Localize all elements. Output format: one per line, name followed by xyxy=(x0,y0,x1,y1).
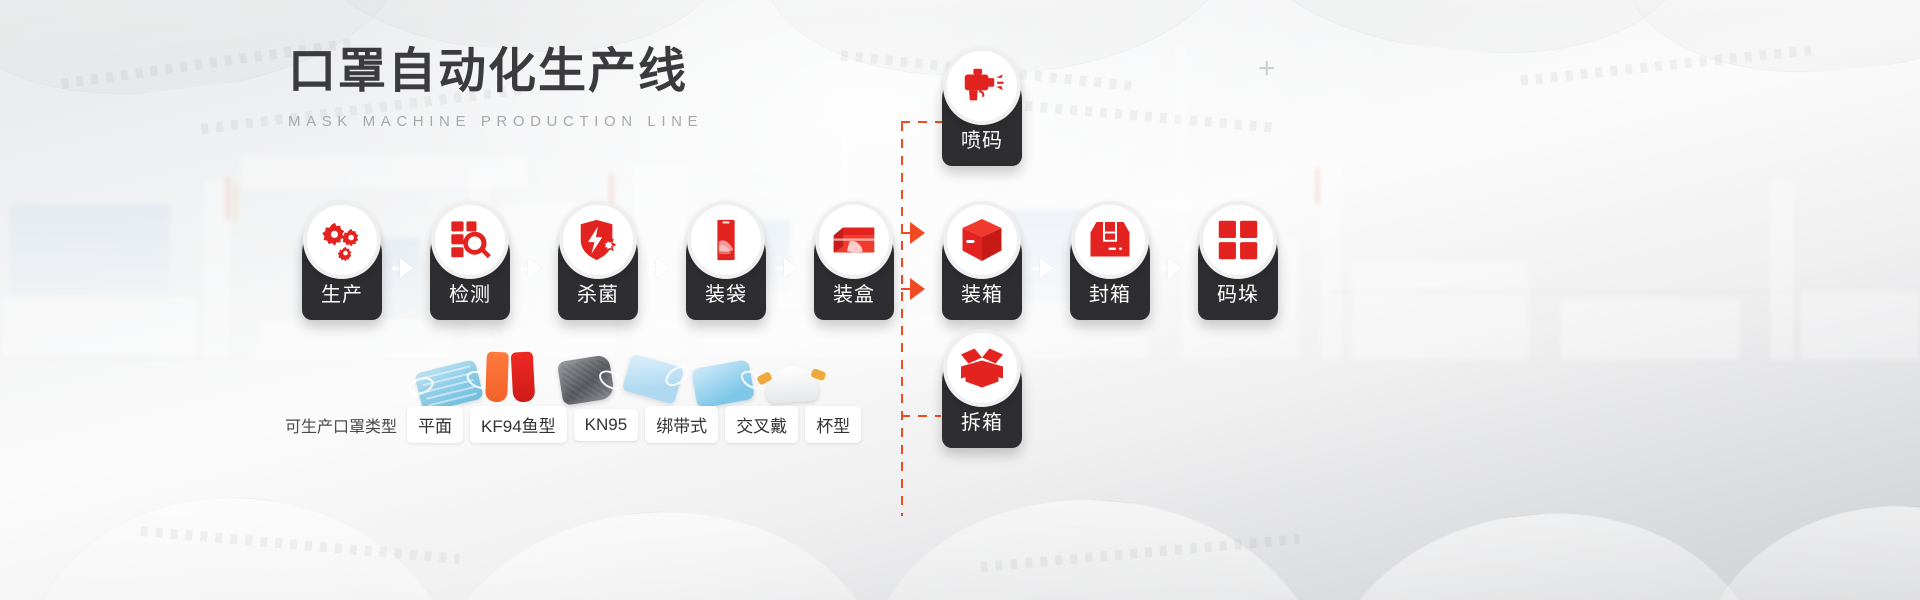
node-label: 码垛 xyxy=(1217,278,1259,320)
branch-trunk-vertical xyxy=(901,122,903,516)
flow-node-unboxing[interactable]: 拆箱 xyxy=(936,342,1028,448)
node-pill[interactable]: 封箱 xyxy=(1070,214,1150,320)
mask-image-kf94-b xyxy=(511,351,536,402)
node-pill[interactable]: 装箱 xyxy=(942,214,1022,320)
chain-arrow-5 xyxy=(1040,258,1053,278)
mask-type-chip-kf94[interactable]: KF94鱼型 xyxy=(470,406,567,443)
node-label: 装袋 xyxy=(705,278,747,320)
chain-arrow-3 xyxy=(656,258,669,278)
mask-types-label: 可生产口罩类型 xyxy=(285,413,397,437)
mask-bag-icon xyxy=(687,201,765,279)
decor-mask-shape xyxy=(858,481,1342,600)
node-pill[interactable]: 生产 xyxy=(302,214,382,320)
sealed-carton-icon xyxy=(1071,201,1149,279)
page-title: 口罩自动化生产线 xyxy=(288,44,703,101)
chain-arrow-1 xyxy=(400,258,413,278)
flow-node-coding[interactable]: 喷码 xyxy=(936,60,1028,166)
node-pill[interactable]: 喷码 xyxy=(942,60,1022,166)
page-title-block: 口罩自动化生产线 MASK MACHINE PRODUCTION LINE xyxy=(288,44,703,130)
flow-node-palletize[interactable]: 码垛 xyxy=(1192,214,1284,320)
four-squares-icon xyxy=(1199,201,1277,279)
node-pill[interactable]: 拆箱 xyxy=(942,342,1022,448)
chain-arrow-4 xyxy=(784,258,797,278)
mask-types-row: 可生产口罩类型 平面 KF94鱼型 KN95 绑带式 交叉戴 杯型 xyxy=(285,406,868,443)
mask-type-chip-crosswear[interactable]: 交叉戴 xyxy=(725,406,798,443)
node-pill[interactable]: 装盒 xyxy=(814,214,894,320)
banner-stage: + 口罩自动化生产线 MASK MACHINE PRODUCTION LINE xyxy=(0,0,1920,600)
flow-node-cartoning[interactable]: 装箱 xyxy=(936,214,1028,320)
flow-node-sterilize[interactable]: 杀菌 xyxy=(552,214,644,320)
decor-mask-shape xyxy=(1691,492,1920,600)
decor-dotted-line xyxy=(1520,44,1819,85)
branch-arrow-cartoning-lower xyxy=(910,278,925,300)
cube-box-icon xyxy=(943,201,1021,279)
mask-image-kf94-a xyxy=(485,352,509,403)
node-label: 拆箱 xyxy=(961,406,1003,448)
open-box-icon xyxy=(943,329,1021,407)
decor-mask-shape xyxy=(421,497,889,600)
decor-plus-icon: + xyxy=(1258,54,1276,84)
node-label: 封箱 xyxy=(1089,278,1131,320)
node-label: 检测 xyxy=(449,278,491,320)
node-label: 杀菌 xyxy=(577,278,619,320)
mask-type-chip-kn95[interactable]: KN95 xyxy=(574,409,639,441)
chain-arrow-2 xyxy=(528,258,541,278)
page-subtitle: MASK MACHINE PRODUCTION LINE xyxy=(288,113,703,130)
decor-mask-shape xyxy=(17,476,474,600)
mask-type-chip-tieon[interactable]: 绑带式 xyxy=(645,406,718,443)
flow-node-produce[interactable]: 生产 xyxy=(296,214,388,320)
grid-magnifier-icon xyxy=(431,201,509,279)
node-label: 喷码 xyxy=(961,124,1003,166)
node-label: 装盒 xyxy=(833,278,875,320)
flow-node-boxing[interactable]: 装盒 xyxy=(808,214,900,320)
decor-dotted-line xyxy=(140,526,460,564)
node-pill[interactable]: 装袋 xyxy=(686,214,766,320)
decor-dotted-line xyxy=(980,534,1300,572)
spray-gun-icon xyxy=(943,47,1021,125)
node-label: 生产 xyxy=(321,278,363,320)
branch-to-unboxing-horizontal xyxy=(901,415,941,417)
flow-node-bagging[interactable]: 装袋 xyxy=(680,214,772,320)
gears-icon xyxy=(303,201,381,279)
mask-image-cup xyxy=(765,364,819,404)
node-pill[interactable]: 杀菌 xyxy=(558,214,638,320)
flow-node-sealing[interactable]: 封箱 xyxy=(1064,214,1156,320)
decor-mask-shape xyxy=(1608,0,1920,88)
node-label: 装箱 xyxy=(961,278,1003,320)
node-pill[interactable]: 检测 xyxy=(430,214,510,320)
branch-arrow-cartoning-upper xyxy=(910,222,925,244)
mask-type-chip-flat[interactable]: 平面 xyxy=(407,406,463,443)
open-carton-icon xyxy=(815,201,893,279)
shield-lightning-icon xyxy=(559,201,637,279)
flow-node-inspect[interactable]: 检测 xyxy=(424,214,516,320)
node-pill[interactable]: 码垛 xyxy=(1198,214,1278,320)
decor-mask-shape xyxy=(1226,0,1705,73)
mask-type-chip-cup[interactable]: 杯型 xyxy=(805,406,861,443)
decor-mask-shape xyxy=(1307,492,1774,600)
chain-arrow-6 xyxy=(1168,258,1181,278)
